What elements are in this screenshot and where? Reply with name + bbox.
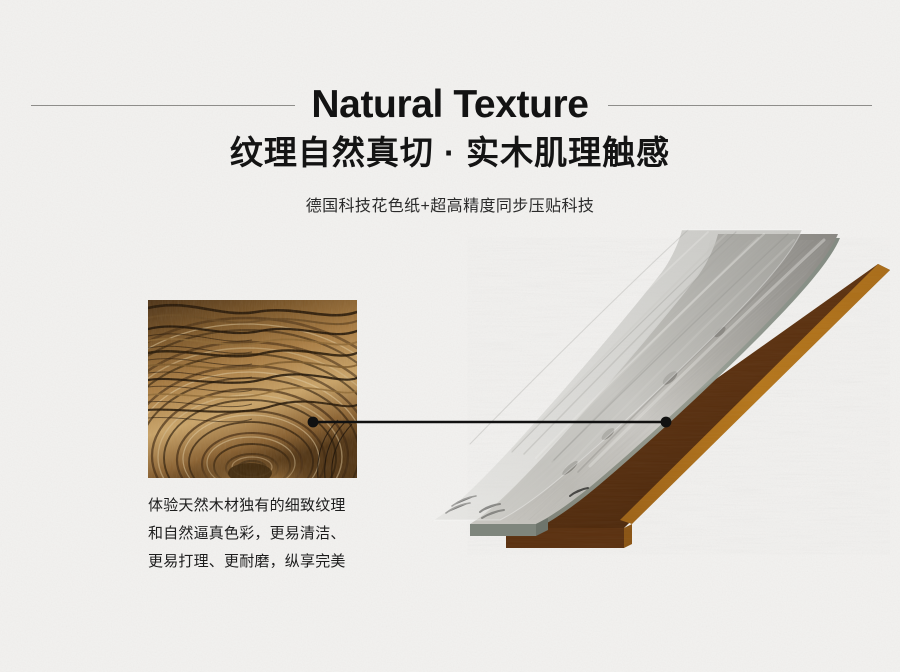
title-rule-left bbox=[31, 105, 295, 106]
flooring-layer-diagram bbox=[420, 228, 890, 573]
caption-line-3: 更易打理、更耐磨，纵享完美 bbox=[148, 548, 398, 576]
wood-grain-texture bbox=[148, 300, 357, 478]
product-feature-banner: Natural Texture 纹理自然真切 · 实木肌理触感 德国科技花色纸+… bbox=[0, 0, 900, 672]
connector-svg bbox=[300, 408, 680, 436]
caption-line-1: 体验天然木材独有的细致纹理 bbox=[148, 492, 398, 520]
page-title-chinese: 纹理自然真切 · 实木肌理触感 bbox=[0, 132, 900, 174]
connector-dot-swatch bbox=[308, 417, 319, 428]
plank-svg bbox=[420, 228, 890, 573]
page-subtitle: 德国科技花色纸+超高精度同步压贴科技 bbox=[0, 195, 900, 219]
title-rule-right bbox=[608, 105, 872, 106]
caption-line-2: 和自然逼真色彩，更易清洁、 bbox=[148, 520, 398, 548]
decor-paper-layer bbox=[420, 228, 890, 573]
connector-dot-plank bbox=[661, 417, 672, 428]
wood-grain-closeup-swatch bbox=[148, 300, 357, 478]
callout-connector bbox=[300, 408, 680, 436]
feature-caption: 体验天然木材独有的细致纹理 和自然逼真色彩，更易清洁、 更易打理、更耐磨，纵享完… bbox=[148, 492, 398, 576]
